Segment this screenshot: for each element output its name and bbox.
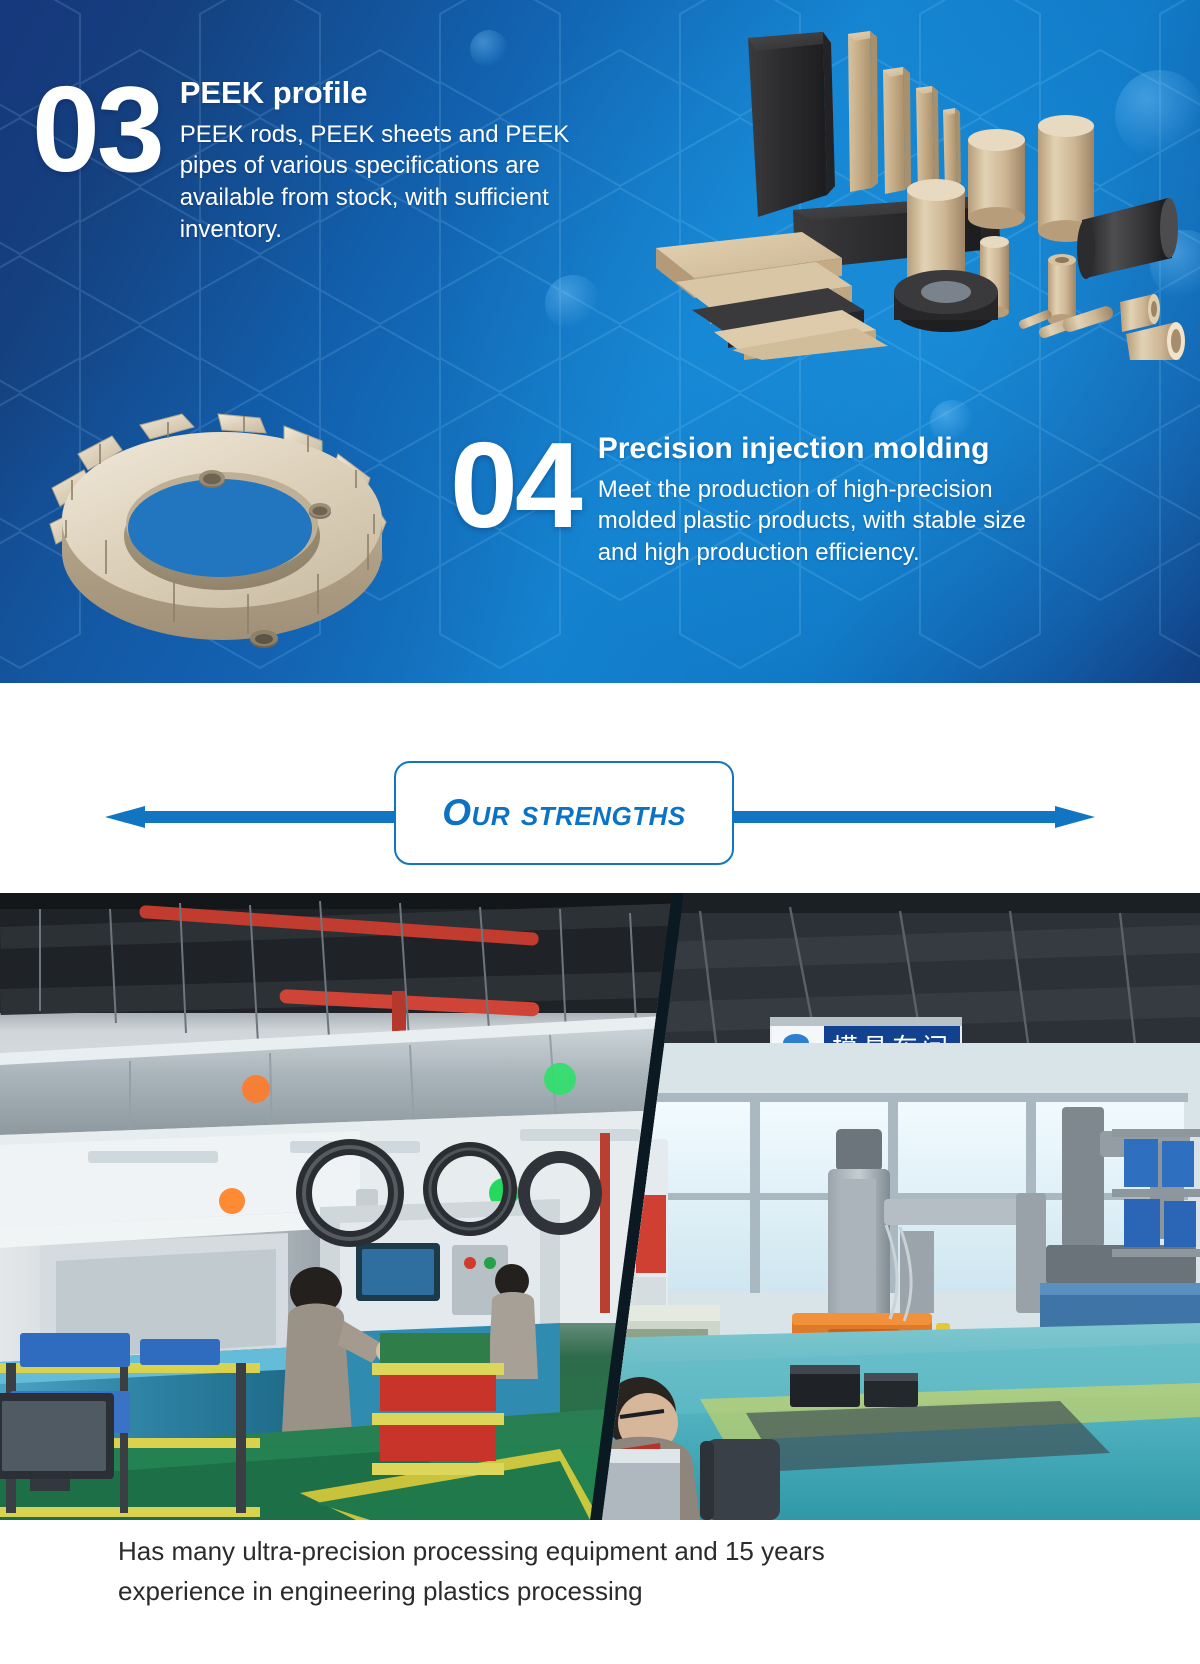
peek-black-ring: [894, 270, 998, 332]
decorative-bubble: [470, 30, 508, 68]
storage-shelf: [1112, 1129, 1200, 1257]
feature-title-04: Precision injection molding: [598, 432, 1068, 466]
factory-photos: 南京苏智 模具车间 Mold Workshop: [0, 893, 1200, 1520]
feature-title-03: PEEK profile: [180, 76, 600, 111]
decorative-bubble: [545, 275, 601, 331]
our-strengths-pill: Our strengths: [394, 761, 734, 865]
signal-lamp-orange: [242, 1075, 270, 1103]
feature-number-04: 04: [450, 428, 580, 569]
peek-stock-product-image: [620, 10, 1200, 360]
peek-square-bars: [848, 31, 961, 194]
caption-line-1: Has many ultra-precision processing equi…: [118, 1533, 825, 1570]
feature-block-03: 03 PEEK profile PEEK rods, PEEK sheets a…: [32, 72, 652, 245]
signal-lamp-orange: [219, 1188, 245, 1214]
parts-shelf: [372, 1333, 504, 1475]
arrow-left-icon: [105, 806, 145, 828]
workstation-monitor: [0, 1393, 114, 1491]
signal-lamp-green: [544, 1063, 576, 1095]
feature-body-04: Meet the production of high-precision mo…: [598, 474, 1068, 569]
our-strengths-label: Our strengths: [442, 792, 685, 834]
peek-tan-tube: [1048, 254, 1076, 326]
feature-block-04: 04 Precision injection molding Meet the …: [450, 428, 1150, 569]
feature-number-03: 03: [32, 72, 162, 245]
caption-block: Has many ultra-precision processing equi…: [0, 1520, 1200, 1664]
arrow-right-icon: [1055, 806, 1095, 828]
peek-black-slab: [748, 32, 835, 217]
feature-body-03: PEEK rods, PEEK sheets and PEEK pipes of…: [180, 119, 600, 246]
office-chair: [700, 1439, 780, 1520]
caption-line-2: experience in engineering plastics proce…: [118, 1573, 643, 1610]
peek-small-tube-right: [1120, 294, 1160, 332]
peek-gear-ring-image: [22, 392, 422, 662]
hero-section: 03 PEEK profile PEEK rods, PEEK sheets a…: [0, 0, 1200, 683]
